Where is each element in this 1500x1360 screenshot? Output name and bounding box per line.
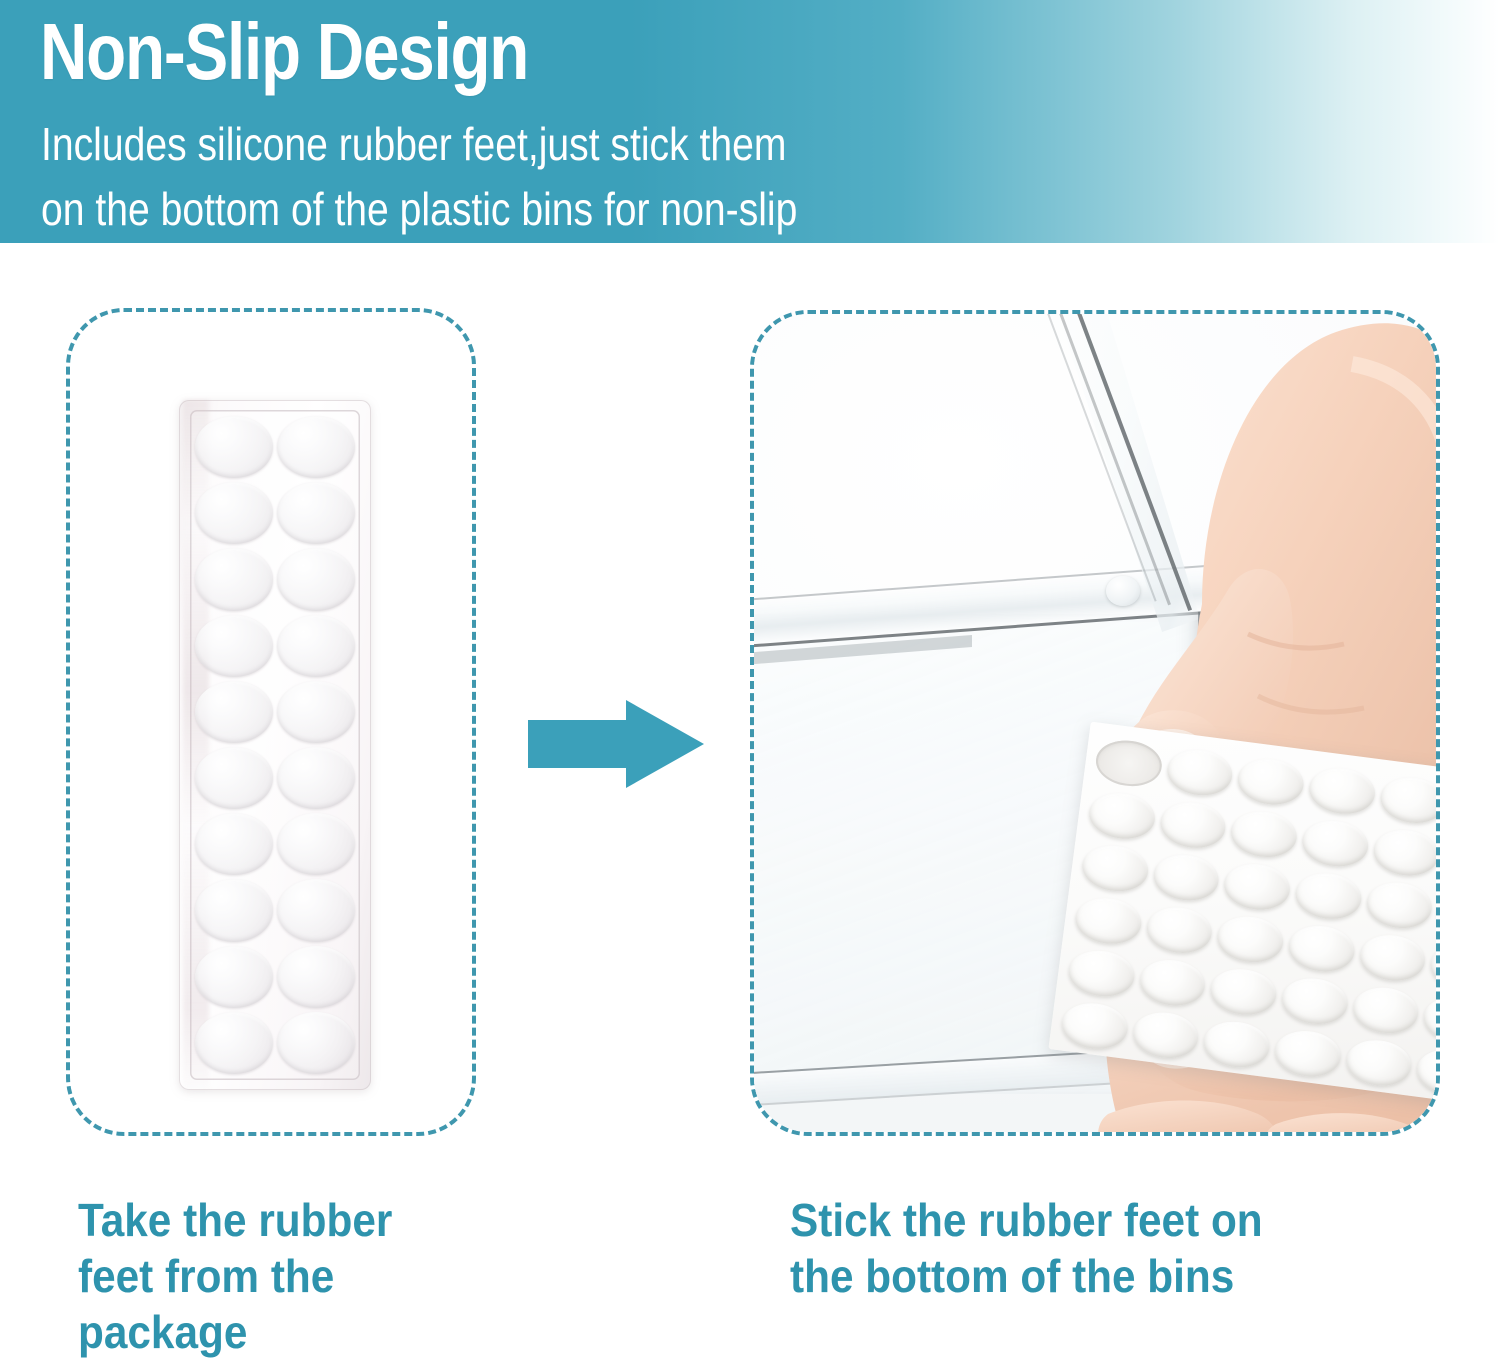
rubber-foot: [195, 747, 273, 809]
rubber-foot: [277, 615, 355, 677]
rubber-foot: [1272, 1027, 1343, 1080]
caption-left-line-2: feet from the: [78, 1248, 392, 1304]
panel-left-package: [66, 308, 476, 1136]
rubber-foot: [1086, 789, 1157, 842]
rubber-foot: [1421, 993, 1436, 1046]
rubber-foot: [1157, 799, 1228, 852]
panel-left-image: [70, 312, 472, 1132]
rubber-foot: [1164, 746, 1235, 799]
rubber-feet-sheet-grid: [1059, 737, 1436, 1099]
header-banner: Non-Slip Design Includes silicone rubber…: [0, 0, 1500, 243]
rubber-foot: [1279, 975, 1350, 1028]
caption-left: Take the rubber feet from the package: [78, 1192, 392, 1360]
rubber-foot: [1229, 808, 1300, 861]
rubber-foot: [1208, 965, 1279, 1018]
page-title: Non-Slip Design: [40, 10, 528, 94]
rubber-foot: [1215, 913, 1286, 966]
header-subtitle-line-2: on the bottom of the plastic bins for no…: [41, 177, 797, 242]
rubber-foot: [1414, 1046, 1436, 1099]
rubber-foot: [277, 813, 355, 875]
rubber-foot: [1343, 1036, 1414, 1089]
rubber-foot: [1300, 817, 1371, 870]
rubber-foot: [195, 416, 273, 478]
rubber-foot: [1130, 1009, 1201, 1062]
rubber-foot: [277, 416, 355, 478]
blister-package: [179, 400, 371, 1090]
rubber-foot: [1371, 826, 1436, 879]
header-subtitle-line-1: Includes silicone rubber feet,just stick…: [41, 112, 797, 177]
rubber-foot: [1428, 941, 1436, 994]
panel-right-image: [754, 314, 1436, 1132]
rubber-feet-sheet: [1048, 722, 1436, 1101]
rubber-foot-removed-slot: [1093, 737, 1164, 790]
rubber-foot: [1364, 879, 1435, 932]
rubber-foot: [1137, 956, 1208, 1009]
rubber-foot: [1357, 931, 1428, 984]
caption-right-line-1: Stick the rubber feet on: [790, 1192, 1263, 1248]
rubber-foot: [277, 548, 355, 610]
rubber-foot: [195, 548, 273, 610]
rubber-foot: [195, 946, 273, 1008]
header-subtitle: Includes silicone rubber feet,just stick…: [41, 112, 797, 243]
panel-right-application: [750, 310, 1440, 1136]
rubber-foot: [195, 482, 273, 544]
rubber-foot: [1201, 1018, 1272, 1071]
rubber-foot: [1144, 904, 1215, 957]
rubber-foot: [195, 879, 273, 941]
rubber-foot: [1059, 1000, 1130, 1053]
rubber-foot: [1073, 894, 1144, 947]
rubber-foot: [277, 1012, 355, 1074]
rubber-foot: [277, 879, 355, 941]
rubber-foot: [1306, 764, 1377, 817]
arrow-right-icon: [528, 698, 704, 790]
rubber-foot: [277, 482, 355, 544]
rubber-foot: [1222, 860, 1293, 913]
rubber-foot: [1378, 774, 1436, 827]
rubber-foot: [1066, 947, 1137, 1000]
rubber-foot: [1435, 888, 1436, 941]
rubber-foot: [195, 681, 273, 743]
rubber-foot: [1293, 870, 1364, 923]
rubber-foot: [277, 946, 355, 1008]
rubber-foot: [195, 1012, 273, 1074]
rubber-foot: [277, 747, 355, 809]
rubber-foot: [195, 615, 273, 677]
bin-scene: [754, 314, 1436, 1132]
rubber-foot: [195, 813, 273, 875]
blister-feet-grid: [195, 416, 355, 1074]
rubber-foot: [277, 681, 355, 743]
rubber-foot: [1151, 851, 1222, 904]
rubber-foot: [1080, 842, 1151, 895]
caption-left-line-1: Take the rubber: [78, 1192, 392, 1248]
rubber-foot: [1350, 984, 1421, 1037]
rubber-foot: [1235, 755, 1306, 808]
caption-left-line-3: package: [78, 1304, 392, 1360]
rubber-foot: [1286, 922, 1357, 975]
caption-right: Stick the rubber feet on the bottom of t…: [790, 1192, 1263, 1304]
caption-right-line-2: the bottom of the bins: [790, 1248, 1263, 1304]
